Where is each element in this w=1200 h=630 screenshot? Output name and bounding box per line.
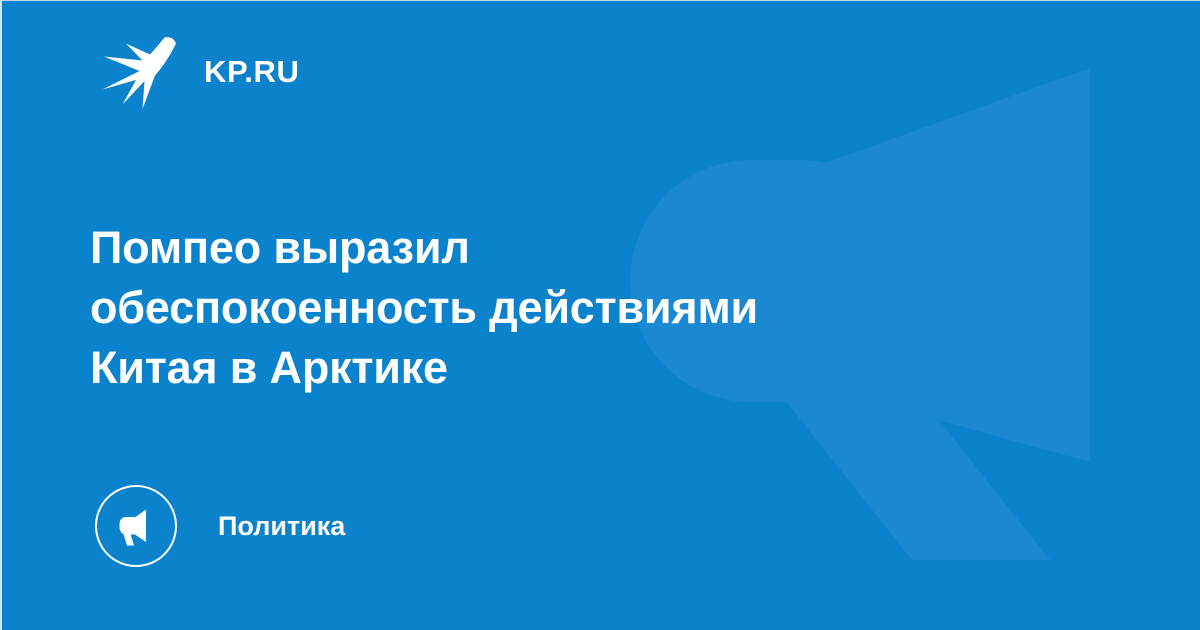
category-badge[interactable]: Политика [95,485,345,567]
megaphone-icon [114,504,158,548]
category-icon-circle[interactable] [95,485,177,567]
headline-line-2: обеспокоенность действиями [90,278,990,338]
brand-wordmark: KP.RU [204,56,299,87]
headline-line-3: Китая в Арктике [90,338,990,398]
social-share-card: KP.RU Помпео выразил обеспокоенность дей… [0,0,1200,630]
page-title: Помпео выразил обеспокоенность действиям… [90,218,990,398]
category-label: Политика [218,513,345,540]
brand-logo[interactable]: KP.RU [100,33,299,109]
headline-line-1: Помпео выразил [90,218,990,278]
swallow-bird-icon [100,33,182,109]
